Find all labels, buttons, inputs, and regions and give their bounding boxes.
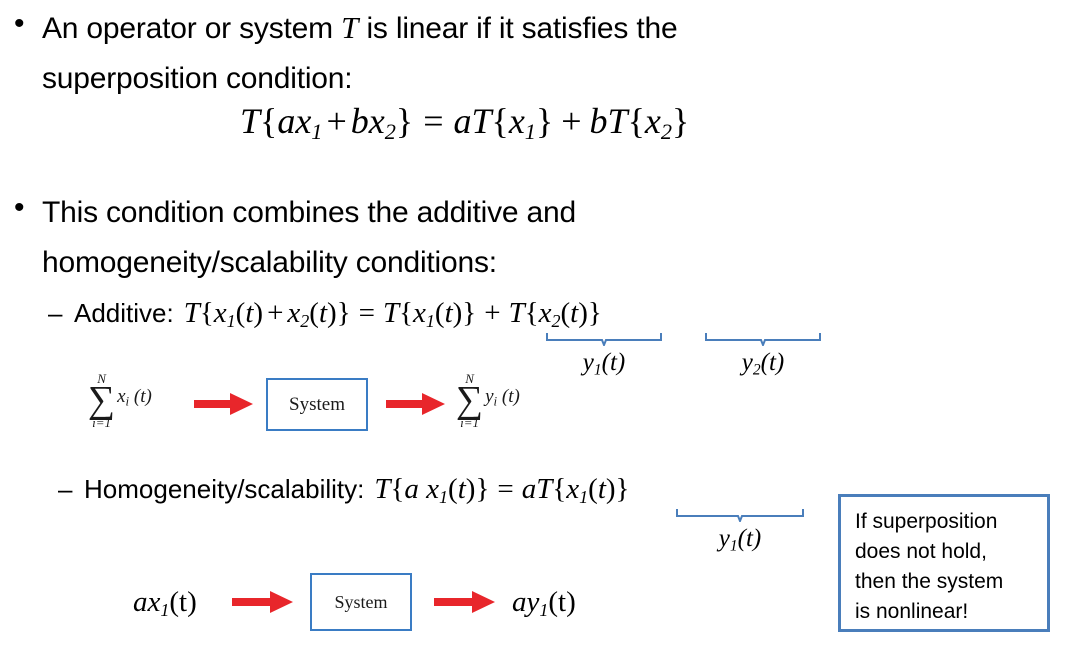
equation-additive: T{x1(t)+x2(t)}=T{x1(t)}+T{x2(t)}: [184, 297, 602, 330]
dash-marker-icon-additive: –: [48, 296, 74, 330]
additive-label: Additive:: [74, 296, 174, 330]
bullet-2-line-1: This condition combines the additive and: [42, 188, 576, 238]
bullet-2-line-2: homogeneity/scalability conditions:: [42, 238, 576, 288]
underbrace-icon-y2: [705, 332, 821, 346]
system-block-bottom: System: [310, 573, 412, 631]
system-block-top-label: System: [289, 394, 345, 416]
bullet-item-2: • This condition combines the additive a…: [14, 188, 1014, 288]
diagram-top-input-summation: N ∑ i=1 xi (t): [88, 372, 152, 429]
underbrace-group-y2: y2(t): [705, 332, 821, 377]
diagram-bottom-input-label: ax1(t): [133, 586, 197, 619]
summation-lower-limit: i=1: [92, 416, 111, 429]
callout-box-nonlinear: If superposition does not hold, then the…: [838, 494, 1050, 632]
sub-bullet-additive: – Additive: T{x1(t)+x2(t)}=T{x1(t)}+T{x2…: [48, 296, 602, 330]
underbrace-icon-y1: [546, 332, 662, 346]
diagram-top-output-summation: N ∑ i=1 yi (t): [456, 372, 520, 429]
additive-rhs-term-1: T{x1(t)}: [383, 297, 476, 329]
eq-sup-a2: a: [454, 101, 472, 141]
summation-input-body: xi (t): [117, 386, 152, 408]
bullet-marker-icon: •: [14, 4, 42, 44]
dash-marker-icon-homogeneity: –: [58, 472, 84, 506]
eq-sup-b2: b: [590, 101, 608, 141]
eq-sup-a: a: [277, 101, 295, 141]
equation-superposition: T{ax1+bx2}=aT{x1}+bT{x2}: [240, 100, 689, 142]
bullet-1-text-part-b: is linear if it satisfies the: [358, 4, 677, 54]
underbrace-label-y1-homogeneity: y1(t): [719, 525, 761, 553]
system-block-bottom-label: System: [334, 592, 387, 613]
diagram-bottom-output-label: ay1(t): [512, 586, 576, 619]
additive-rhs-term-2: T{x2(t)}: [509, 297, 602, 329]
underbrace-icon-y1-homogeneity: [676, 508, 804, 522]
sigma-icon: ∑: [88, 383, 115, 418]
underbrace-label-y1: y1(t): [583, 349, 625, 377]
callout-text: If superposition does not hold, then the…: [855, 507, 1035, 627]
eq-sup-T1: T: [240, 101, 260, 141]
bullet-marker-icon-2: •: [14, 188, 42, 228]
summation-symbol-output: N ∑ i=1: [456, 372, 483, 429]
arrow-right-icon-top-output: [386, 392, 446, 416]
equation-homogeneity: T{a x1(t)}=aT{x1(t)}: [374, 473, 629, 506]
arrow-right-icon-top-input: [194, 392, 254, 416]
sub-bullet-homogeneity: – Homogeneity/scalability: T{a x1(t)}=aT…: [58, 472, 629, 506]
homogeneity-rhs-term: aT{x1(t)}: [522, 473, 630, 505]
underbrace-group-y1-homogeneity: y1(t): [676, 508, 804, 553]
bullet-item-1: • An operator or system T is linear if i…: [14, 4, 1014, 104]
homogeneity-label: Homogeneity/scalability:: [84, 472, 364, 506]
bullet-1-line-2: superposition condition:: [42, 54, 677, 104]
arrow-right-icon-bottom-output: [434, 590, 496, 614]
bullet-1-symbol-T: T: [341, 10, 358, 46]
bullet-1-text-part-a: An operator or system: [42, 4, 341, 54]
sigma-icon-output: ∑: [456, 383, 483, 418]
summation-symbol-input: N ∑ i=1: [88, 372, 115, 429]
underbrace-label-y2: y2(t): [742, 349, 784, 377]
summation-output-body: yi (t): [485, 386, 520, 408]
arrow-right-icon-bottom-input: [232, 590, 294, 614]
slide-canvas: • An operator or system T is linear if i…: [0, 0, 1065, 658]
underbrace-group-y1: y1(t): [546, 332, 662, 377]
system-block-top: System: [266, 378, 368, 431]
summation-lower-limit-out: i=1: [460, 416, 479, 429]
eq-sup-b: b: [351, 101, 369, 141]
